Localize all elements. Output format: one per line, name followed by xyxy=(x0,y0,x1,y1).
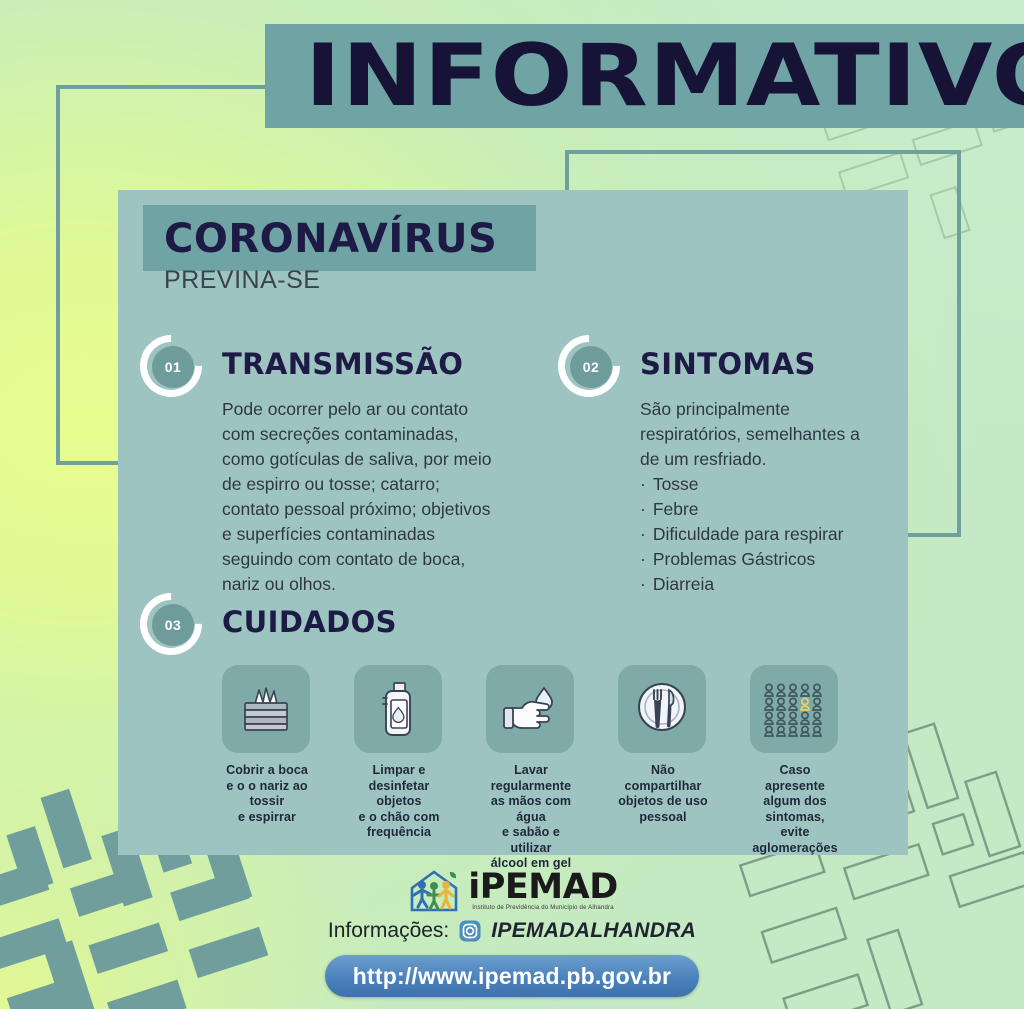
section-number: 01 xyxy=(152,346,194,388)
care-card-label: Caso apresentealgum dossintomas, eviteag… xyxy=(750,763,840,856)
section-sintomas: 02 SINTOMAS São principalmente respirató… xyxy=(558,335,878,597)
care-card: Lavar regularmenteas mãos com águae sabã… xyxy=(486,665,576,872)
section-number: 02 xyxy=(570,346,612,388)
list-item: Tosse xyxy=(640,472,878,497)
section-badge: 01 xyxy=(140,335,202,397)
main-panel: CORONAVÍRUS PREVINA-SE 01 TRANSMISSÃO Po… xyxy=(118,190,908,855)
section-header: 03 CUIDADOS xyxy=(140,593,900,651)
footer: iPEMAD Instituto de Previdência do Munic… xyxy=(0,868,1024,997)
infographic-poster: INFORMATIVO CORONAVÍRUS PREVINA-SE 01 TR… xyxy=(0,0,1024,1009)
section-body: São principalmente respiratórios, semelh… xyxy=(640,397,878,597)
contact-row: Informações: IPEMADALHANDRA xyxy=(0,919,1024,943)
section-number: 03 xyxy=(152,604,194,646)
care-card-label: Lavar regularmenteas mãos com águae sabã… xyxy=(486,763,576,872)
section-header: 01 TRANSMISSÃO xyxy=(140,335,500,393)
section-title: TRANSMISSÃO xyxy=(222,347,463,381)
logo-text: iPEMAD xyxy=(468,870,618,904)
page-title: INFORMATIVO xyxy=(305,28,1024,124)
logo-tagline: Instituto de Previdência do Município de… xyxy=(468,905,618,911)
instagram-handle[interactable]: IPEMADALHANDRA xyxy=(491,919,696,943)
sintomas-text: São principalmente respiratórios, semelh… xyxy=(640,397,878,472)
section-transmissao: 01 TRANSMISSÃO Pode ocorrer pelo ar ou c… xyxy=(140,335,500,597)
section-header: 02 SINTOMAS xyxy=(558,335,878,393)
section-title: SINTOMAS xyxy=(640,347,816,381)
plate-cutlery-icon xyxy=(618,665,706,753)
section-badge: 03 xyxy=(140,593,202,655)
care-card: Não compartilharobjetos de usopessoal xyxy=(618,665,708,872)
crowd-icon xyxy=(750,665,838,753)
section-badge: 02 xyxy=(558,335,620,397)
symptom-list: Tosse Febre Dificuldade para respirar Pr… xyxy=(640,472,878,597)
section-title: CUIDADOS xyxy=(222,605,397,639)
care-card: Limpar edesinfetar objetose o chão comfr… xyxy=(354,665,444,872)
care-card-label: Cobrir a bocae o o nariz ao tossire espi… xyxy=(222,763,312,825)
info-label: Informações: xyxy=(328,919,449,943)
care-card: Cobrir a bocae o o nariz ao tossire espi… xyxy=(222,665,312,872)
website-url-button[interactable]: http://www.ipemad.pb.gov.br xyxy=(325,955,699,997)
sanitizer-bottle-icon xyxy=(354,665,442,753)
hand-wash-icon xyxy=(486,665,574,753)
transmissao-text: Pode ocorrer pelo ar ou contato com secr… xyxy=(222,397,500,597)
care-card-label: Limpar edesinfetar objetose o chão comfr… xyxy=(354,763,444,841)
coronavirus-title: CORONAVÍRUS xyxy=(164,216,497,262)
tissue-box-icon xyxy=(222,665,310,753)
instagram-icon[interactable] xyxy=(458,919,482,943)
list-item: Febre xyxy=(640,497,878,522)
section-body: Pode ocorrer pelo ar ou contato com secr… xyxy=(222,397,500,597)
section-cuidados: 03 CUIDADOS xyxy=(140,593,900,872)
list-item: Problemas Gástricos xyxy=(640,547,878,572)
ipemad-logo-icon xyxy=(406,868,462,912)
care-card-label: Não compartilharobjetos de usopessoal xyxy=(618,763,708,825)
coronavirus-subtitle: PREVINA-SE xyxy=(164,266,320,295)
care-card: Caso apresentealgum dossintomas, eviteag… xyxy=(750,665,840,872)
logo-row: iPEMAD Instituto de Previdência do Munic… xyxy=(0,868,1024,912)
care-cards: Cobrir a bocae o o nariz ao tossire espi… xyxy=(222,665,900,872)
list-item: Dificuldade para respirar xyxy=(640,522,878,547)
